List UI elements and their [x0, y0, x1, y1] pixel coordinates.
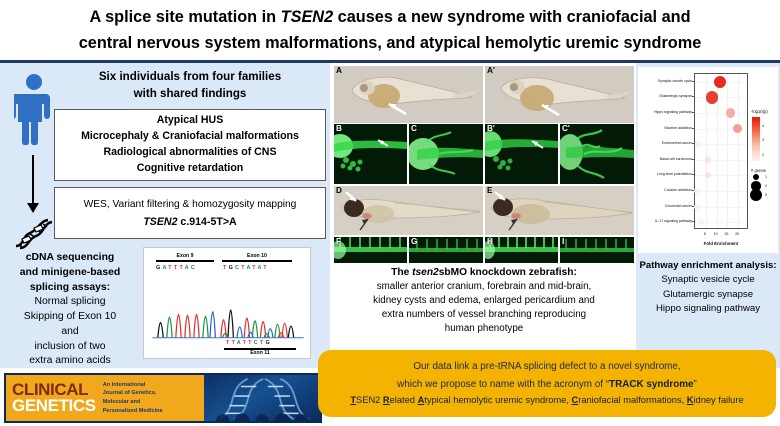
conclusion-box: Our data link a pre-tRNA splicing defect…	[318, 350, 776, 417]
cdna-result-line-3: and	[6, 325, 134, 340]
caption-gene-name: tsen2	[412, 267, 439, 278]
larva-image-E	[485, 186, 634, 235]
shared-findings-box: Atypical HUS Microcephaly & Craniofacial…	[54, 109, 326, 181]
dotplot-y-axis-label: IL-17 signaling pathway	[638, 219, 692, 223]
cdna-heading-line-3: splicing assays:	[6, 281, 134, 296]
journal-subtitle-line-1: An International	[103, 381, 163, 390]
dotplot-plot-area	[694, 73, 748, 229]
panel-label-I: I	[562, 237, 564, 246]
dotplot-point	[694, 204, 700, 210]
dotplot-color-legend-tick: 3	[762, 138, 764, 142]
finding-item: Cognitive retardation	[137, 161, 244, 177]
dotplot-color-legend-tick: 2	[762, 153, 764, 157]
journal-logo-text-block: CLINICAL GENETICS An International Journ…	[6, 375, 204, 421]
dotplot-color-legend-tick: 4	[762, 124, 764, 128]
dotplot-point	[733, 124, 742, 133]
cohort-headline-line-2: with shared findings	[56, 86, 324, 103]
dotplot-y-tick-mark	[692, 81, 694, 82]
gfp-trunk-image-I	[560, 237, 634, 263]
pathway-summary-heading: Pathway enrichment analysis:	[636, 259, 780, 273]
figure-panel-B: B	[334, 124, 407, 184]
pathway-summary-item: Glutamergic synapse	[636, 288, 780, 302]
panel-label-C: C	[411, 124, 417, 133]
chromatogram-image: Exon 9 Exon 10 GATTTAC TGCTATAT	[143, 247, 311, 359]
pathway-summary-text: Pathway enrichment analysis: Synaptic ve…	[636, 259, 780, 317]
dna-artwork-icon	[204, 375, 320, 421]
panel-label-F: F	[336, 237, 341, 246]
title-line-1-part-b: causes a new syndrome with craniofacial …	[333, 8, 690, 26]
dotplot-size-legend-label: 1	[765, 175, 767, 179]
dotplot-y-axis-label: Synaptic vesicle cycle	[638, 79, 692, 83]
panel-label-C-prime: C'	[562, 124, 570, 133]
title-line-2: central nervous system malformations, an…	[79, 30, 702, 56]
zebrafish-caption-heading: The tsen2sbMO knockdown zebrafish:	[334, 266, 634, 280]
gfp-vessel-image-B-prime	[485, 124, 558, 184]
dotplot-y-axis-label: Glutamergic synapse	[638, 94, 692, 98]
dotplot-y-tick-mark	[692, 190, 694, 191]
dotplot-y-axis-label: Long-term potentiation	[638, 172, 692, 176]
left-panel: Six individuals from four families with …	[0, 63, 330, 368]
flow-arrow-head	[27, 203, 39, 213]
right-panel: Synaptic vesicle cycleGlutamergic synaps…	[636, 63, 780, 368]
dotplot-color-gradient-bar	[752, 117, 760, 161]
dotplot-gridline-horizontal	[695, 160, 747, 161]
person-icon	[14, 73, 54, 145]
larva-image-D	[334, 186, 483, 235]
syndrome-acronym: TRACK syndrome	[609, 379, 694, 390]
cdna-assay-text: cDNA sequencing and minigene-based splic…	[6, 251, 134, 369]
title-line-1-part-a: A splice site mutation in	[89, 8, 280, 26]
figure-panel-H: H	[485, 237, 558, 263]
dotplot-x-axis-title: Fold Enrichment	[678, 241, 764, 246]
dotplot-size-legend-label: 2	[765, 184, 767, 188]
figure-panel-C-prime: C'	[560, 124, 634, 184]
dotplot-point	[726, 108, 735, 117]
wes-method-text: WES, Variant filtering & homozygosity ma…	[84, 199, 297, 210]
dotplot-y-tick-mark	[692, 143, 694, 144]
gfp-trunk-image-H	[485, 237, 558, 263]
figure-panel-F: F	[334, 237, 407, 263]
cdna-result-line-4: inclusion of two	[6, 340, 134, 355]
journal-subtitle-line-4: Personalized Medicine	[103, 407, 163, 416]
cdna-heading-line-2: and minigene-based	[6, 266, 134, 281]
acronym-word: elated	[390, 395, 418, 405]
variant-notation: TSEN2 c.914-5T>A	[143, 216, 236, 228]
size-legend-text: # genes	[751, 168, 766, 173]
chromatogram-traces	[148, 273, 308, 345]
figure-panel-B-prime: B'	[485, 124, 558, 184]
exon10-bracket	[222, 260, 292, 262]
graphical-abstract: A splice site mutation in TSEN2 causes a…	[0, 0, 780, 426]
dotplot-gridline-horizontal	[695, 144, 747, 145]
cdna-result-line-1: Normal splicing	[6, 295, 134, 310]
exon11-label: Exon 11	[224, 350, 296, 356]
dotplot-y-axis-label: Colorectal cancer	[638, 204, 692, 208]
dotplot-y-tick-mark	[692, 174, 694, 175]
conclusion-line-1: Our data link a pre-tRNA splicing defect…	[413, 358, 680, 375]
conclusion-line-2: which we propose to name with the acrony…	[397, 376, 697, 393]
cdna-result-line-2: Skipping of Exon 10	[6, 310, 134, 325]
conclusion-line-2-part-a: which we propose to name with the acrony…	[397, 379, 609, 390]
zebrafish-caption: The tsen2sbMO knockdown zebrafish: small…	[334, 266, 634, 336]
dotplot-color-legend-title: -log10(p)	[751, 109, 768, 114]
panel-label-E: E	[487, 186, 492, 195]
page-title: A splice site mutation in TSEN2 causes a…	[0, 0, 780, 60]
dotplot-size-legend-title: # genes	[751, 168, 766, 173]
figure-panel-G: G	[409, 237, 483, 263]
panel-label-A: A	[336, 66, 342, 75]
embryo-image-A-prime	[485, 66, 634, 123]
zebrafish-caption-line-2: kidney cysts and edema, enlarged pericar…	[334, 294, 634, 308]
figure-panel-I: I	[560, 237, 634, 263]
dotplot-point	[694, 188, 700, 194]
dotplot-gridline-horizontal	[695, 113, 747, 114]
acronym-word: idney failure	[693, 395, 743, 405]
dotplot-size-legend-label: 3	[765, 193, 767, 197]
panel-label-A-prime: A'	[487, 66, 495, 75]
figure-panel-E: E	[485, 186, 634, 235]
cohort-headline-line-1: Six individuals from four families	[56, 69, 324, 86]
flow-arrow-line	[32, 155, 34, 207]
figure-panel-C: C	[409, 124, 483, 184]
acronym-word: raniofacial malformations,	[578, 395, 687, 405]
variant-gene: TSEN2	[143, 216, 177, 228]
panel-label-D: D	[336, 186, 342, 195]
dotplot-y-tick-mark	[692, 221, 694, 222]
acronym-expansion-line: TSEN2 Related Atypical hemolytic uremic …	[350, 393, 743, 409]
exon10-sequence: TGCTATAT	[223, 265, 269, 271]
abstract-body: Six individuals from four families with …	[0, 63, 780, 426]
journal-logo-dna-artwork	[204, 375, 320, 421]
dotplot-y-tick-mark	[692, 206, 694, 207]
dotplot-gridline-horizontal	[695, 97, 747, 98]
dotplot-point	[706, 91, 718, 103]
figure-panel-D: D	[334, 186, 483, 235]
dotplot-gridline-horizontal	[695, 207, 747, 208]
dotplot-point	[705, 157, 711, 163]
pathway-summary-item: Synaptic vesicle cycle	[636, 273, 780, 287]
dotplot-y-axis-label: Cocaine addiction	[638, 188, 692, 192]
figure-panel-A-prime: A'	[485, 66, 634, 123]
journal-subtitle: An International Journal of Genetics, Mo…	[103, 381, 163, 416]
conclusion-line-2-part-c: ”	[694, 379, 697, 390]
finding-item: Atypical HUS	[157, 113, 224, 129]
caption-heading-part-b: sbMO knockdown zebrafish	[439, 267, 574, 278]
dotplot-point	[705, 172, 711, 178]
cohort-headline: Six individuals from four families with …	[56, 69, 324, 103]
variant-change: c.914-5T>A	[177, 216, 236, 228]
gfp-vessel-image-C-prime	[560, 124, 634, 184]
zebrafish-figure-panel: A A'	[334, 66, 634, 263]
panel-label-B-prime: B'	[487, 124, 495, 133]
gfp-vessel-image-B	[334, 124, 407, 184]
dotplot-x-tick-label: 20	[731, 232, 743, 236]
dotplot-y-tick-mark	[692, 96, 694, 97]
exon9-label: Exon 9	[156, 253, 214, 259]
dotplot-gridline-horizontal	[695, 191, 747, 192]
dotplot-point	[698, 219, 704, 225]
panel-label-H: H	[487, 237, 493, 246]
journal-logo: CLINICAL GENETICS An International Journ…	[4, 373, 322, 423]
dna-helix-icon	[10, 215, 56, 251]
caption-heading-part-c: :	[573, 267, 576, 278]
dotplot-point	[695, 141, 701, 147]
gfp-vessel-image-C	[409, 124, 483, 184]
title-gene-name: TSEN2	[281, 8, 333, 26]
title-line-1: A splice site mutation in TSEN2 causes a…	[89, 4, 690, 30]
dotplot-y-axis-label: Endometrial cancer	[638, 141, 692, 145]
panel-label-G: G	[411, 237, 417, 246]
journal-subtitle-line-3: Molecular and	[103, 398, 163, 407]
acronym-letter: R	[383, 395, 390, 405]
color-legend-text: -log10(p)	[751, 109, 768, 114]
zebrafish-caption-line-4: human phenotype	[334, 322, 634, 336]
journal-subtitle-line-2: Journal of Genetics,	[103, 389, 163, 398]
dotplot-y-axis-label: Nicotine addiction	[638, 126, 692, 130]
dotplot-gridline-horizontal	[695, 175, 747, 176]
figure-panel-A: A	[334, 66, 483, 123]
exon10-label: Exon 10	[222, 253, 292, 259]
zebrafish-caption-line-1: smaller anterior cranium, forebrain and …	[334, 280, 634, 294]
dotplot-y-tick-mark	[692, 128, 694, 129]
journal-name-line-2: GENETICS	[12, 398, 96, 414]
panel-label-B: B	[336, 124, 342, 133]
pathway-summary-item: Hippo signaling pathway	[636, 302, 780, 316]
dotplot-y-tick-mark	[692, 112, 694, 113]
dotplot-size-legend-dot	[750, 189, 762, 201]
dotplot-y-axis-label: Hippo signaling pathway	[638, 110, 692, 114]
dotplot-y-tick-mark	[692, 159, 694, 160]
acronym-word: typical hemolytic uremic syndrome,	[424, 395, 571, 405]
cdna-result-line-5: extra amino acids	[6, 354, 134, 369]
cdna-heading-line-1: cDNA sequencing	[6, 251, 134, 266]
dotplot-size-legend-dot	[753, 174, 759, 180]
embryo-image-A	[334, 66, 483, 123]
exon9-sequence: GATTTAC	[156, 265, 197, 271]
exon9-bracket	[156, 260, 214, 262]
finding-item: Microcephaly & Craniofacial malformation…	[81, 129, 299, 145]
gfp-trunk-image-F	[334, 237, 407, 263]
pathway-enrichment-dotplot: Synaptic vesicle cycleGlutamergic synaps…	[638, 67, 778, 253]
dotplot-y-axis-label: Basal cell carcinoma	[638, 157, 692, 161]
finding-item: Radiological abnormalities of CNS	[103, 145, 276, 161]
dotplot-point	[714, 76, 726, 88]
zebrafish-caption-line-3: extra numbers of vessel branching reprod…	[334, 308, 634, 322]
exon11-sequence: TTATTCTG	[226, 340, 272, 346]
gfp-trunk-image-G	[409, 237, 483, 263]
caption-heading-part-a: The	[391, 267, 412, 278]
wes-analysis-box: WES, Variant filtering & homozygosity ma…	[54, 187, 326, 239]
acronym-word: SEN2	[356, 395, 383, 405]
